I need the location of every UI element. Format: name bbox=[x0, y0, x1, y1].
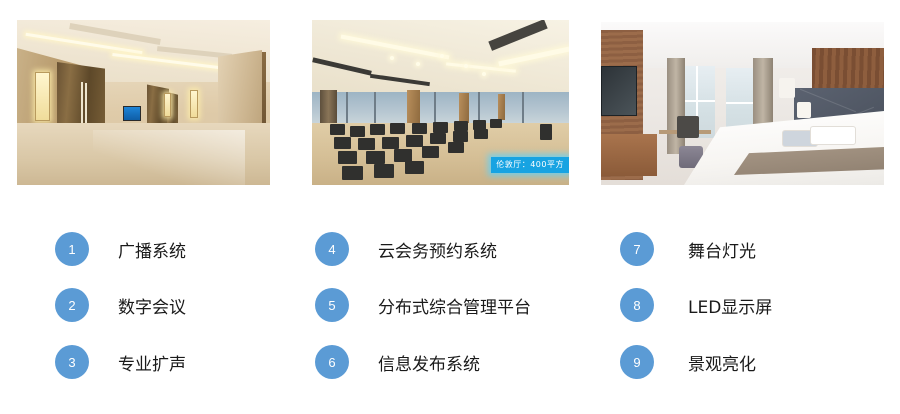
list-item[interactable]: 5 分布式综合管理平台 bbox=[315, 288, 531, 322]
list-item-label: 云会务预约系统 bbox=[378, 237, 497, 262]
list-item-label: 景观亮化 bbox=[688, 350, 756, 375]
room-television bbox=[601, 66, 637, 116]
room-tv-console bbox=[601, 134, 657, 176]
wall-sconce-light bbox=[35, 72, 50, 121]
hall-area-badge: 伦敦厅：400平方 bbox=[491, 157, 569, 173]
lobby-information-display bbox=[123, 106, 141, 121]
elevator-lobby-photo bbox=[17, 20, 270, 185]
hall-chair bbox=[474, 129, 488, 139]
hall-pillar bbox=[459, 93, 469, 123]
list-item-label: 信息发布系统 bbox=[378, 350, 480, 375]
hall-stacked-chairs bbox=[540, 124, 552, 140]
list-item[interactable]: 1 广播系统 bbox=[55, 232, 186, 266]
wall-sconce-light bbox=[164, 93, 171, 117]
hall-downlight bbox=[390, 56, 394, 60]
hall-pillar bbox=[498, 94, 505, 120]
list-item[interactable]: 8 LED显示屏 bbox=[620, 288, 772, 322]
list-item-number: 9 bbox=[620, 345, 654, 379]
list-item-label: 广播系统 bbox=[118, 237, 186, 262]
hall-chair bbox=[422, 146, 439, 158]
hall-window-mullion bbox=[374, 92, 376, 126]
list-item-number: 7 bbox=[620, 232, 654, 266]
hall-chair bbox=[338, 151, 357, 164]
list-item-label: 分布式综合管理平台 bbox=[378, 293, 531, 318]
list-item[interactable]: 7 舞台灯光 bbox=[620, 232, 756, 266]
list-item-number: 1 bbox=[55, 232, 89, 266]
list-item[interactable]: 6 信息发布系统 bbox=[315, 345, 480, 379]
system-list-column-1: 1 广播系统 2 数字会议 3 专业扩声 bbox=[55, 200, 345, 414]
hall-chair bbox=[370, 124, 385, 135]
room-curtain bbox=[667, 58, 685, 154]
system-list-column-3: 7 舞台灯光 8 LED显示屏 9 景观亮化 bbox=[620, 200, 900, 414]
guestroom-illustration bbox=[601, 22, 884, 185]
hall-chair bbox=[453, 131, 468, 142]
hotel-guestroom-photo bbox=[601, 22, 884, 185]
hall-chair bbox=[405, 161, 424, 174]
list-item[interactable]: 4 云会务预约系统 bbox=[315, 232, 497, 266]
list-item-label: 舞台灯光 bbox=[688, 237, 756, 262]
elevator-lobby-illustration bbox=[17, 20, 270, 185]
hall-window-wall bbox=[312, 92, 569, 126]
wall-sconce-light bbox=[190, 90, 198, 118]
list-item-number: 6 bbox=[315, 345, 349, 379]
hall-chair bbox=[366, 151, 385, 164]
list-item-label: 专业扩声 bbox=[118, 350, 186, 375]
hall-chair bbox=[430, 133, 446, 144]
list-item[interactable]: 9 景观亮化 bbox=[620, 345, 756, 379]
list-item-number: 8 bbox=[620, 288, 654, 322]
hall-chair bbox=[334, 137, 351, 149]
hall-chair bbox=[412, 123, 427, 134]
list-item-number: 5 bbox=[315, 288, 349, 322]
hall-window-mullion bbox=[346, 92, 348, 126]
lobby-floor-reflection bbox=[93, 130, 245, 185]
hall-chair bbox=[406, 135, 423, 147]
list-item[interactable]: 3 专业扩声 bbox=[55, 345, 186, 379]
conference-hall-illustration: 伦敦厅：400平方 bbox=[312, 20, 569, 185]
hall-window-mullion bbox=[522, 92, 524, 126]
list-item-label: 数字会议 bbox=[118, 293, 186, 318]
list-item[interactable]: 2 数字会议 bbox=[55, 288, 186, 322]
conference-hall-photo: 伦敦厅：400平方 bbox=[312, 20, 569, 185]
hall-chair bbox=[454, 121, 468, 131]
hall-chair bbox=[374, 164, 394, 178]
hall-chair bbox=[342, 166, 363, 180]
room-desk-chair bbox=[677, 116, 699, 138]
list-item-number: 3 bbox=[55, 345, 89, 379]
hall-chair bbox=[433, 122, 448, 133]
hall-chair bbox=[358, 138, 375, 150]
hall-downlight bbox=[416, 62, 420, 66]
hall-chair bbox=[390, 123, 405, 134]
hall-chair bbox=[330, 124, 345, 135]
list-item-number: 2 bbox=[55, 288, 89, 322]
list-item-label: LED显示屏 bbox=[688, 293, 772, 318]
hall-chair bbox=[382, 137, 399, 149]
list-item-number: 4 bbox=[315, 232, 349, 266]
room-bedside-lamp bbox=[797, 102, 811, 118]
hall-downlight bbox=[482, 72, 486, 76]
hall-chair bbox=[350, 126, 365, 137]
photo-gallery: 伦敦厅：400平方 bbox=[0, 0, 900, 200]
hall-chair bbox=[448, 142, 464, 153]
hall-downlight bbox=[464, 64, 468, 68]
hall-chair bbox=[490, 119, 502, 128]
system-list: 1 广播系统 2 数字会议 3 专业扩声 4 云会务预约系统 5 分布式综合管理… bbox=[0, 200, 900, 414]
hall-downlight bbox=[440, 54, 444, 58]
hall-window-mullion bbox=[434, 92, 436, 126]
system-list-column-2: 4 云会务预约系统 5 分布式综合管理平台 6 信息发布系统 bbox=[315, 200, 605, 414]
room-floor-lamp bbox=[779, 78, 795, 98]
room-pillow bbox=[810, 126, 856, 145]
hall-pillar bbox=[407, 90, 420, 126]
